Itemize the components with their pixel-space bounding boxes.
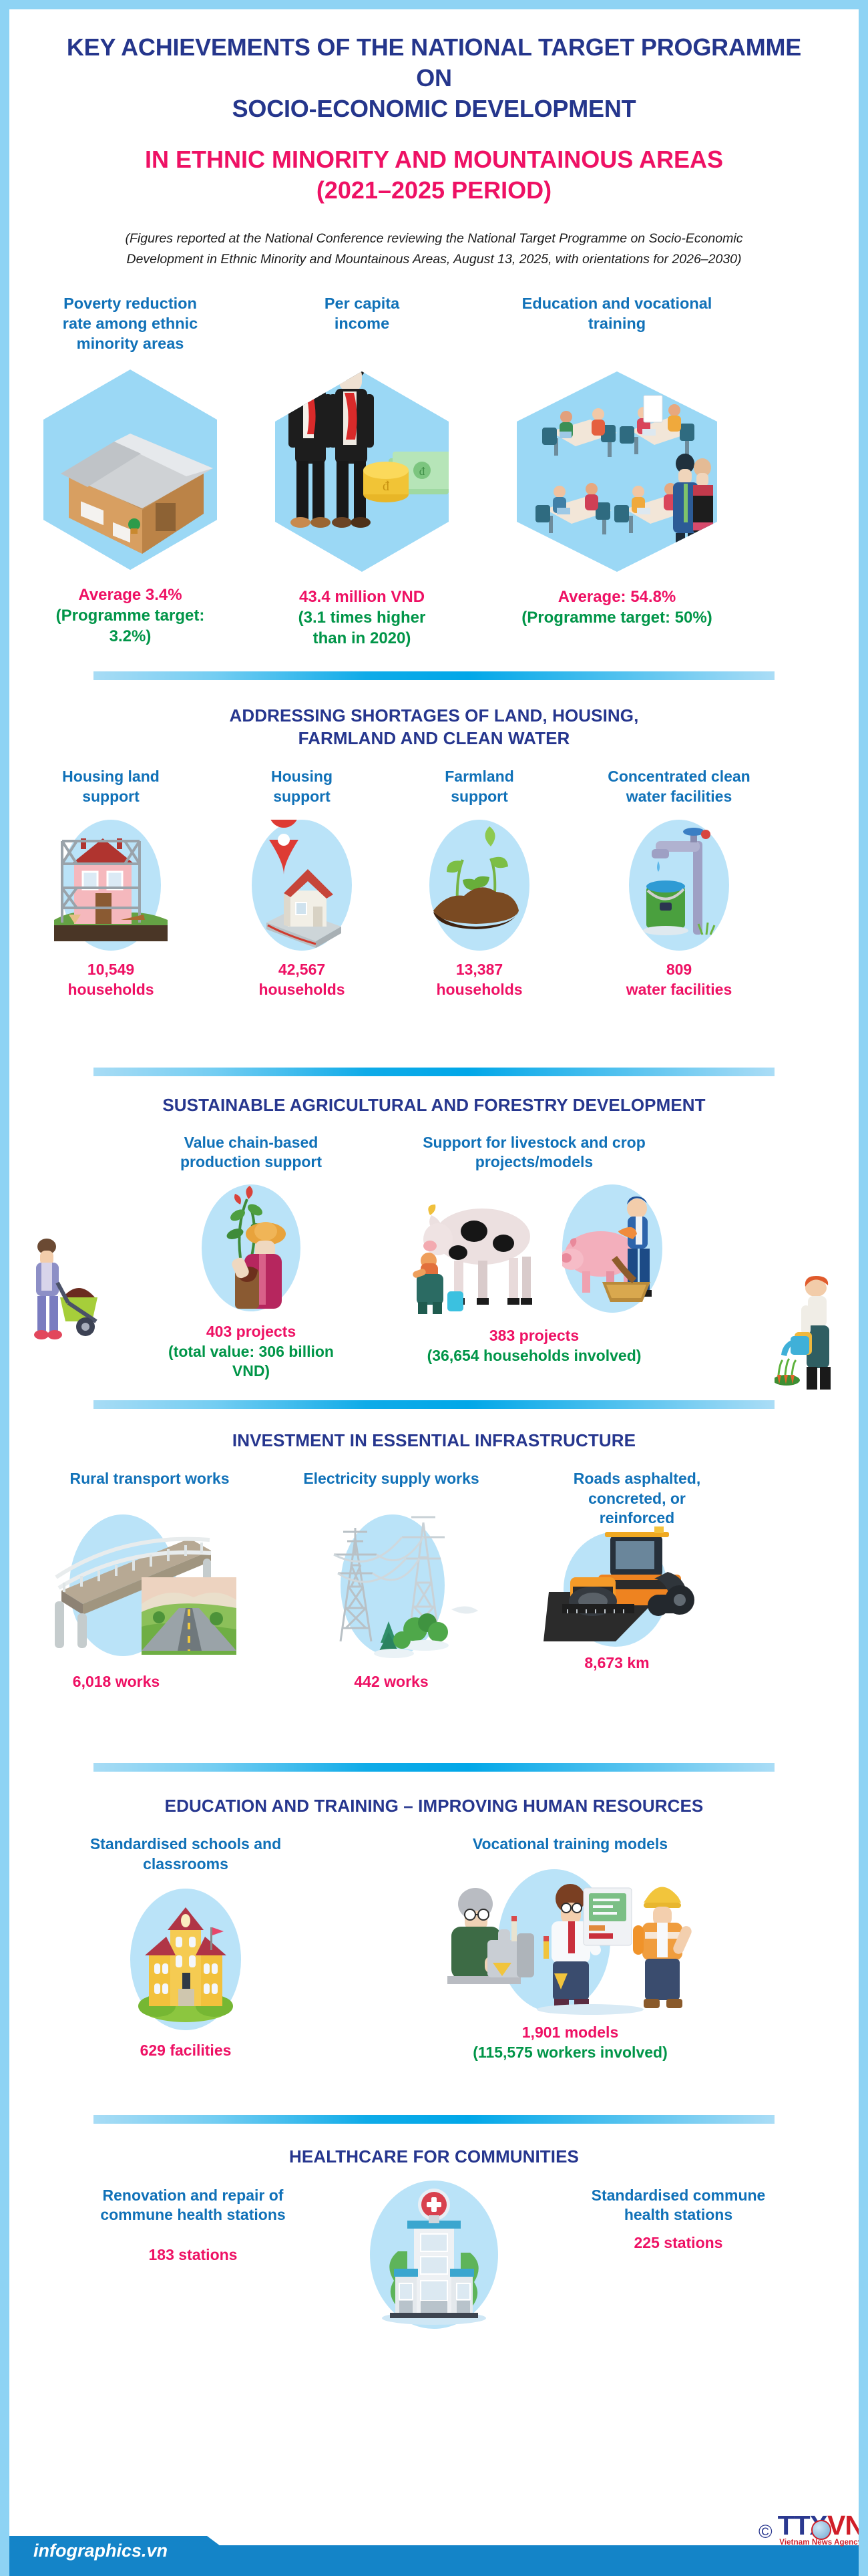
indicator-note: (3.1 times higher than in 2020)	[262, 607, 462, 649]
section-land-housing-water: Housing land support	[9, 767, 859, 1068]
vocational-trainers-icon	[437, 1876, 717, 2024]
footer-site-label: infographics.vn	[33, 2541, 168, 2561]
house-under-construction-icon	[61, 820, 161, 951]
item-clean-water-facilities: Concentrated clean water facilities	[582, 767, 776, 1000]
item-unit: water facilities	[582, 980, 776, 1000]
item-value: 403 projects	[151, 1322, 351, 1342]
indicator-note: (Programme target: 3.2%)	[20, 605, 240, 647]
item-label: Concentrated clean water facilities	[582, 767, 776, 806]
item-value: 10,549	[17, 960, 204, 980]
item-label: Renovation and repair of commune health …	[16, 2186, 370, 2225]
item-note: (36,654 households involved)	[381, 1346, 688, 1366]
item-label: Rural transport works	[16, 1469, 283, 1488]
section-4-heading: INVESTMENT IN ESSENTIAL INFRASTRUCTURE	[9, 1429, 859, 1452]
svg-text:đ: đ	[383, 479, 389, 494]
indicator-poverty-reduction: Poverty reduction rate among ethnic mino…	[20, 293, 240, 647]
source-note: (Figures reported at the National Confer…	[63, 228, 805, 269]
item-value: 225 stations	[505, 2233, 852, 2253]
item-label: Housing land support	[17, 767, 204, 806]
indicator-label: Education and vocational training	[477, 293, 757, 333]
indicator-label: Per capita income	[262, 293, 462, 333]
item-unit: households	[17, 980, 204, 1000]
subtitle-line-1: IN ETHNIC MINORITY AND MOUNTAINOUS AREAS	[63, 144, 805, 175]
indicator-note: (Programme target: 50%)	[477, 607, 757, 628]
road-roller-icon	[537, 1522, 710, 1659]
section-education-training: Standardised schools and classrooms	[9, 1834, 859, 2115]
indicator-label: Poverty reduction rate among ethnic mino…	[20, 293, 240, 353]
item-label: Vocational training models	[397, 1834, 744, 1854]
school-building-icon	[130, 1889, 241, 2030]
item-renovation-health-stations: Renovation and repair of commune health …	[16, 2186, 370, 2265]
wheelbarrow-worker-icon	[19, 1233, 105, 1350]
item-value: 629 facilities	[52, 2041, 319, 2061]
item-vocational-training-models: Vocational training models	[397, 1834, 744, 2062]
section-5-heading: EDUCATION AND TRAINING – IMPROVING HUMAN…	[9, 1794, 859, 1817]
section-divider	[93, 2115, 775, 2124]
item-rural-transport-works: Rural transport works	[16, 1469, 283, 1692]
item-value: 1,901 models	[397, 2023, 744, 2043]
farmer-harvest-icon	[202, 1184, 300, 1311]
item-label: Support for livestock and crop projects/…	[381, 1133, 688, 1172]
section-divider	[93, 1763, 775, 1772]
footer: infographics.vn © TTXVN Vietnam News Age…	[9, 2524, 868, 2576]
globe-icon	[811, 2520, 831, 2540]
item-unit: households	[222, 980, 382, 1000]
svg-text:đ: đ	[419, 465, 425, 478]
footer-site-tag[interactable]: infographics.vn	[9, 2536, 244, 2571]
section-divider	[93, 671, 775, 680]
item-livestock-crop-support: Support for livestock and crop projects/…	[381, 1133, 688, 1366]
bridge-road-icon	[29, 1508, 270, 1671]
traditional-house-icon	[43, 369, 217, 570]
indicator-value: 43.4 million VND	[262, 587, 462, 607]
section-2-heading: ADDRESSING SHORTAGES OF LAND, HOUSING, F…	[9, 704, 859, 750]
item-unit: households	[399, 980, 560, 1000]
section-headline-indicators: Poverty reduction rate among ethnic mino…	[9, 293, 859, 667]
section-healthcare: Renovation and repair of commune health …	[9, 2181, 859, 2381]
item-label: Standardised commune health stations	[505, 2186, 852, 2225]
item-value: 809	[582, 960, 776, 980]
item-value-chain-support: Value chain-based production support	[151, 1133, 351, 1382]
item-note: (total value: 306 billion VND)	[151, 1342, 351, 1382]
item-value: 183 stations	[16, 2245, 370, 2265]
power-pylon-icon	[314, 1508, 487, 1671]
faucet-bucket-icon	[629, 820, 729, 951]
item-electricity-supply-works: Electricity supply works	[284, 1469, 498, 1692]
title-line-1: KEY ACHIEVEMENTS OF THE NATIONAL TARGET …	[63, 32, 805, 94]
soil-sprout-icon	[429, 820, 529, 951]
section-6-heading: HEALTHCARE FOR COMMUNITIES	[9, 2145, 859, 2168]
section-3-heading: SUSTAINABLE AGRICULTURAL AND FORESTRY DE…	[9, 1094, 859, 1116]
indicator-value: Average 3.4%	[20, 585, 240, 605]
ttxvn-logo: © TTXVN Vietnam News Agency	[758, 2513, 864, 2547]
section-divider	[93, 1400, 775, 1409]
item-label: Housing support	[222, 767, 382, 806]
cow-milking-icon	[403, 1196, 544, 1319]
item-label: Farmland support	[399, 767, 560, 806]
item-label: Value chain-based production support	[151, 1133, 351, 1172]
watering-can-worker-icon	[775, 1275, 855, 1398]
ethnic-couple-money-icon: đ đ	[275, 371, 449, 572]
item-value: 383 projects	[381, 1326, 688, 1346]
indicator-value: Average: 54.8%	[477, 587, 757, 607]
item-label: Roads asphalted, concreted, or reinforce…	[517, 1469, 757, 1528]
house-pin-icon	[252, 820, 352, 951]
item-standardised-schools: Standardised schools and classrooms	[52, 1834, 319, 2061]
item-standardised-health-stations: Standardised commune health stations 225…	[505, 2186, 852, 2253]
item-housing-land-support: Housing land support	[17, 767, 204, 1000]
item-value: 6,018 works	[16, 1672, 216, 1692]
item-value: 442 works	[284, 1672, 498, 1692]
page-title: KEY ACHIEVEMENTS OF THE NATIONAL TARGET …	[63, 32, 805, 124]
classroom-icon	[517, 371, 717, 572]
header: KEY ACHIEVEMENTS OF THE NATIONAL TARGET …	[9, 9, 859, 269]
infographic-page: KEY ACHIEVEMENTS OF THE NATIONAL TARGET …	[0, 0, 868, 2576]
ttxvn-wordmark: TTXVN	[778, 2513, 864, 2539]
item-farmland-support: Farmland support 13,38	[399, 767, 560, 1000]
section-infrastructure: Rural transport works	[9, 1469, 859, 1763]
pig-feeding-icon	[562, 1184, 662, 1313]
subtitle-line-2: (2021–2025 PERIOD)	[63, 175, 805, 206]
item-label: Electricity supply works	[284, 1469, 498, 1488]
item-label: Standardised schools and classrooms	[52, 1834, 319, 1874]
item-value: 42,567	[222, 960, 382, 980]
section-divider	[93, 1068, 775, 1076]
item-value: 13,387	[399, 960, 560, 980]
item-roads-asphalted: Roads asphalted, concreted, or reinforce…	[517, 1469, 757, 1673]
health-station-icon	[370, 2181, 498, 2329]
item-note: (115,575 workers involved)	[397, 2043, 744, 2063]
indicator-per-capita-income: Per capita income	[262, 293, 462, 649]
title-line-2: SOCIO-ECONOMIC DEVELOPMENT	[63, 94, 805, 124]
section-agriculture-forestry: Value chain-based production support	[9, 1133, 859, 1400]
item-housing-support: Housing support	[222, 767, 382, 1000]
page-subtitle: IN ETHNIC MINORITY AND MOUNTAINOUS AREAS…	[63, 144, 805, 206]
copyright-icon: ©	[758, 2523, 773, 2541]
indicator-education-vocational: Education and vocational training	[477, 293, 757, 629]
